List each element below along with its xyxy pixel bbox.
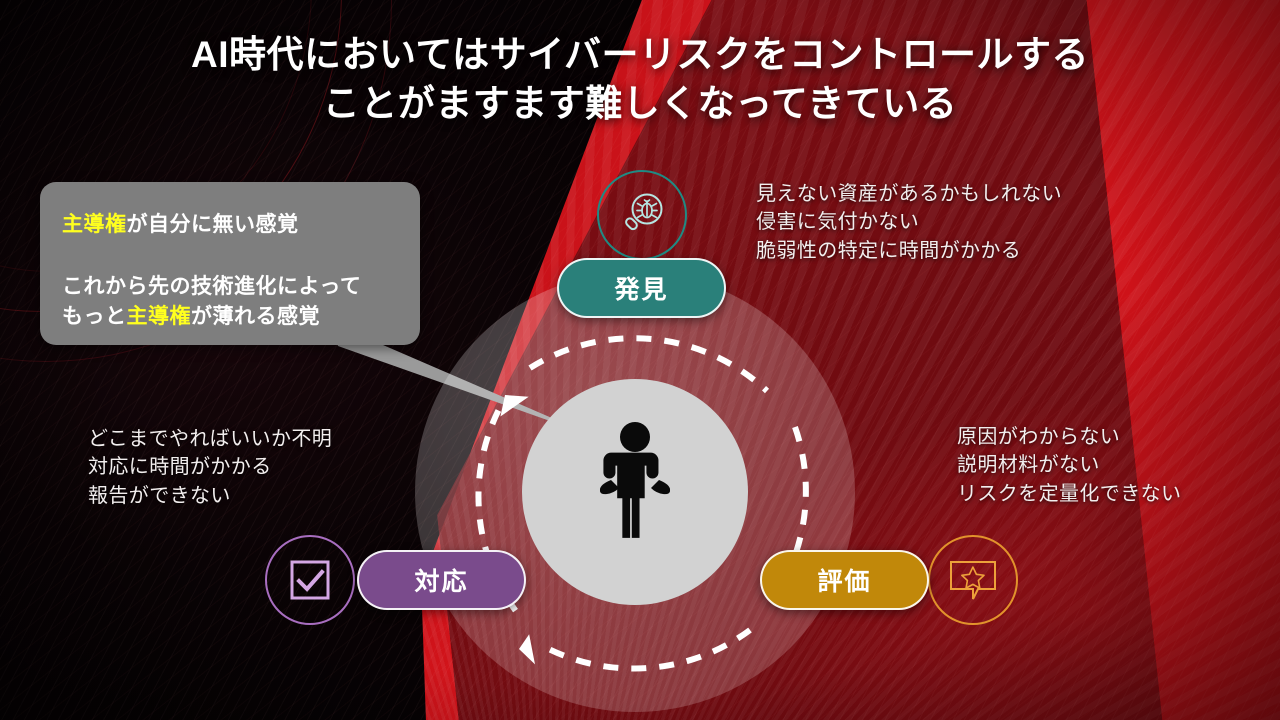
shrugging-person-icon bbox=[600, 420, 670, 565]
callout-box: 主導権が自分に無い感覚 これから先の技術進化によって もっと主導権が薄れる感覚 bbox=[40, 182, 420, 345]
callout-line-3: もっと主導権が薄れる感覚 bbox=[62, 300, 320, 330]
callout-highlight-3: 主導権 bbox=[127, 305, 192, 328]
cycle-step-respond-label: 対応 bbox=[414, 562, 468, 598]
cycle-diagram bbox=[395, 252, 875, 720]
note-assess: 原因がわからない 説明材料がない リスクを定量化できない bbox=[957, 423, 1181, 508]
bug-magnifier-icon bbox=[616, 189, 668, 241]
cycle-step-assess-label: 評価 bbox=[817, 562, 871, 598]
callout-rest-3: が薄れる感覚 bbox=[191, 305, 320, 328]
cycle-step-discover-label: 発見 bbox=[614, 270, 668, 306]
respond-icon-circle[interactable] bbox=[265, 535, 355, 625]
assess-icon-circle[interactable] bbox=[928, 535, 1018, 625]
note-respond: どこまでやればいいか不明 対応に時間がかかる 報告ができない bbox=[88, 425, 332, 510]
callout-rest-1: が自分に無い感覚 bbox=[127, 213, 299, 236]
callout-line-1: 主導権が自分に無い感覚 bbox=[62, 208, 299, 238]
callout-highlight-1: 主導権 bbox=[62, 213, 127, 236]
cycle-step-respond[interactable]: 対応 bbox=[357, 550, 526, 610]
slide-canvas: AI時代においてはサイバーリスクをコントロールする ことがますます難しくなってき… bbox=[0, 0, 1280, 720]
checkbox-check-icon bbox=[287, 557, 333, 603]
callout-line-2: これから先の技術進化によって bbox=[62, 270, 361, 300]
cycle-step-discover[interactable]: 発見 bbox=[557, 258, 726, 318]
callout-prefix-3: もっと bbox=[62, 305, 127, 328]
discover-icon-circle[interactable] bbox=[597, 170, 687, 260]
star-comment-icon bbox=[947, 556, 999, 604]
cycle-step-assess[interactable]: 評価 bbox=[760, 550, 929, 610]
